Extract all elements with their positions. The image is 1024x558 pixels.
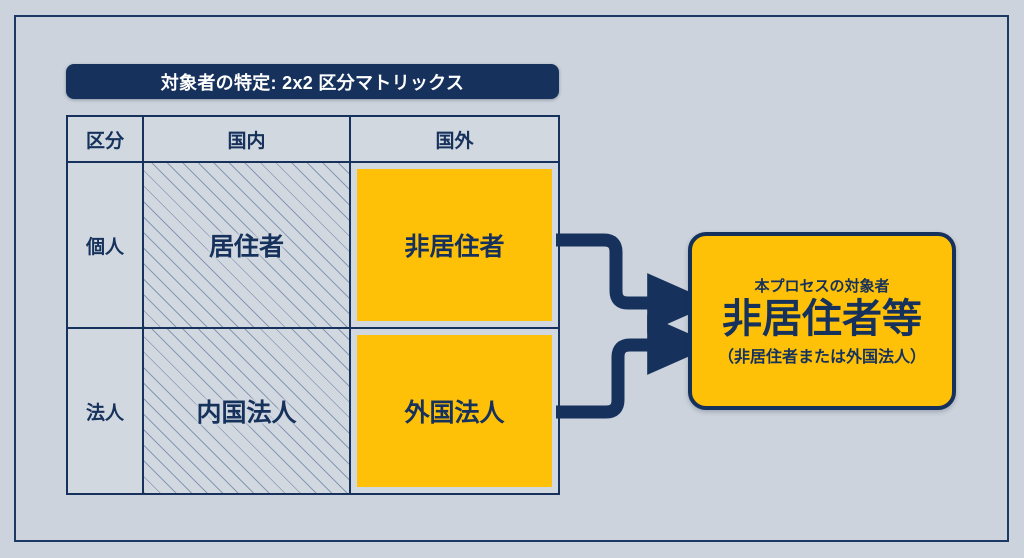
- matrix-rubric-corporation-label: 法人: [86, 398, 124, 425]
- diagram-title-banner: 対象者の特定: 2x2 区分マトリックス: [66, 64, 559, 99]
- result-headline: 非居住者等: [722, 298, 922, 341]
- matrix-cell-corporation-domestic: 内国法人: [142, 329, 349, 493]
- matrix-rubric-individual: 個人: [68, 163, 142, 327]
- matrix-header-row: 区分 国内 国外: [68, 117, 558, 161]
- classification-matrix: 区分 国内 国外 個人 居住者 非居住者: [66, 115, 560, 495]
- matrix-header-foreign-label: 国外: [435, 126, 473, 153]
- matrix-cell-corporation-foreign-label: 外国法人: [404, 393, 504, 429]
- matrix-cell-individual-domestic: 居住者: [142, 163, 349, 327]
- matrix-cell-individual-foreign-fill: 非居住者: [357, 169, 552, 321]
- matrix-header-domestic-label: 国内: [227, 126, 265, 153]
- matrix-header-foreign: 国外: [349, 117, 558, 161]
- matrix-cell-corporation-foreign: 外国法人: [349, 329, 558, 493]
- result-callout: 本プロセスの対象者 非居住者等 （非居住者または外国法人）: [688, 232, 956, 410]
- diagram-title-text: 対象者の特定: 2x2 区分マトリックス: [161, 69, 465, 95]
- matrix-header-domestic: 国内: [142, 117, 349, 161]
- matrix-header-rubric-label: 区分: [86, 126, 124, 153]
- arrow-from-non-resident: [556, 240, 655, 303]
- matrix-rubric-individual-label: 個人: [86, 232, 124, 259]
- diagram-canvas: 対象者の特定: 2x2 区分マトリックス 区分 国内 国外 個人 居住者: [0, 0, 1024, 558]
- result-note: （非居住者または外国法人）: [718, 343, 926, 367]
- arrow-from-foreign-corporation: [556, 345, 655, 412]
- matrix-cell-corporation-foreign-fill: 外国法人: [357, 335, 552, 487]
- matrix-cell-individual-foreign: 非居住者: [349, 163, 558, 327]
- matrix-cell-individual-foreign-label: 非居住者: [404, 227, 504, 263]
- result-eyebrow: 本プロセスの対象者: [754, 275, 889, 296]
- matrix-row-individual: 個人 居住者 非居住者: [68, 161, 558, 327]
- matrix-cell-individual-domestic-label: 居住者: [203, 225, 290, 265]
- matrix-header-rubric: 区分: [68, 117, 142, 161]
- matrix-cell-corporation-domestic-label: 内国法人: [190, 391, 302, 431]
- matrix-rubric-corporation: 法人: [68, 329, 142, 493]
- matrix-row-corporation: 法人 内国法人 外国法人: [68, 327, 558, 493]
